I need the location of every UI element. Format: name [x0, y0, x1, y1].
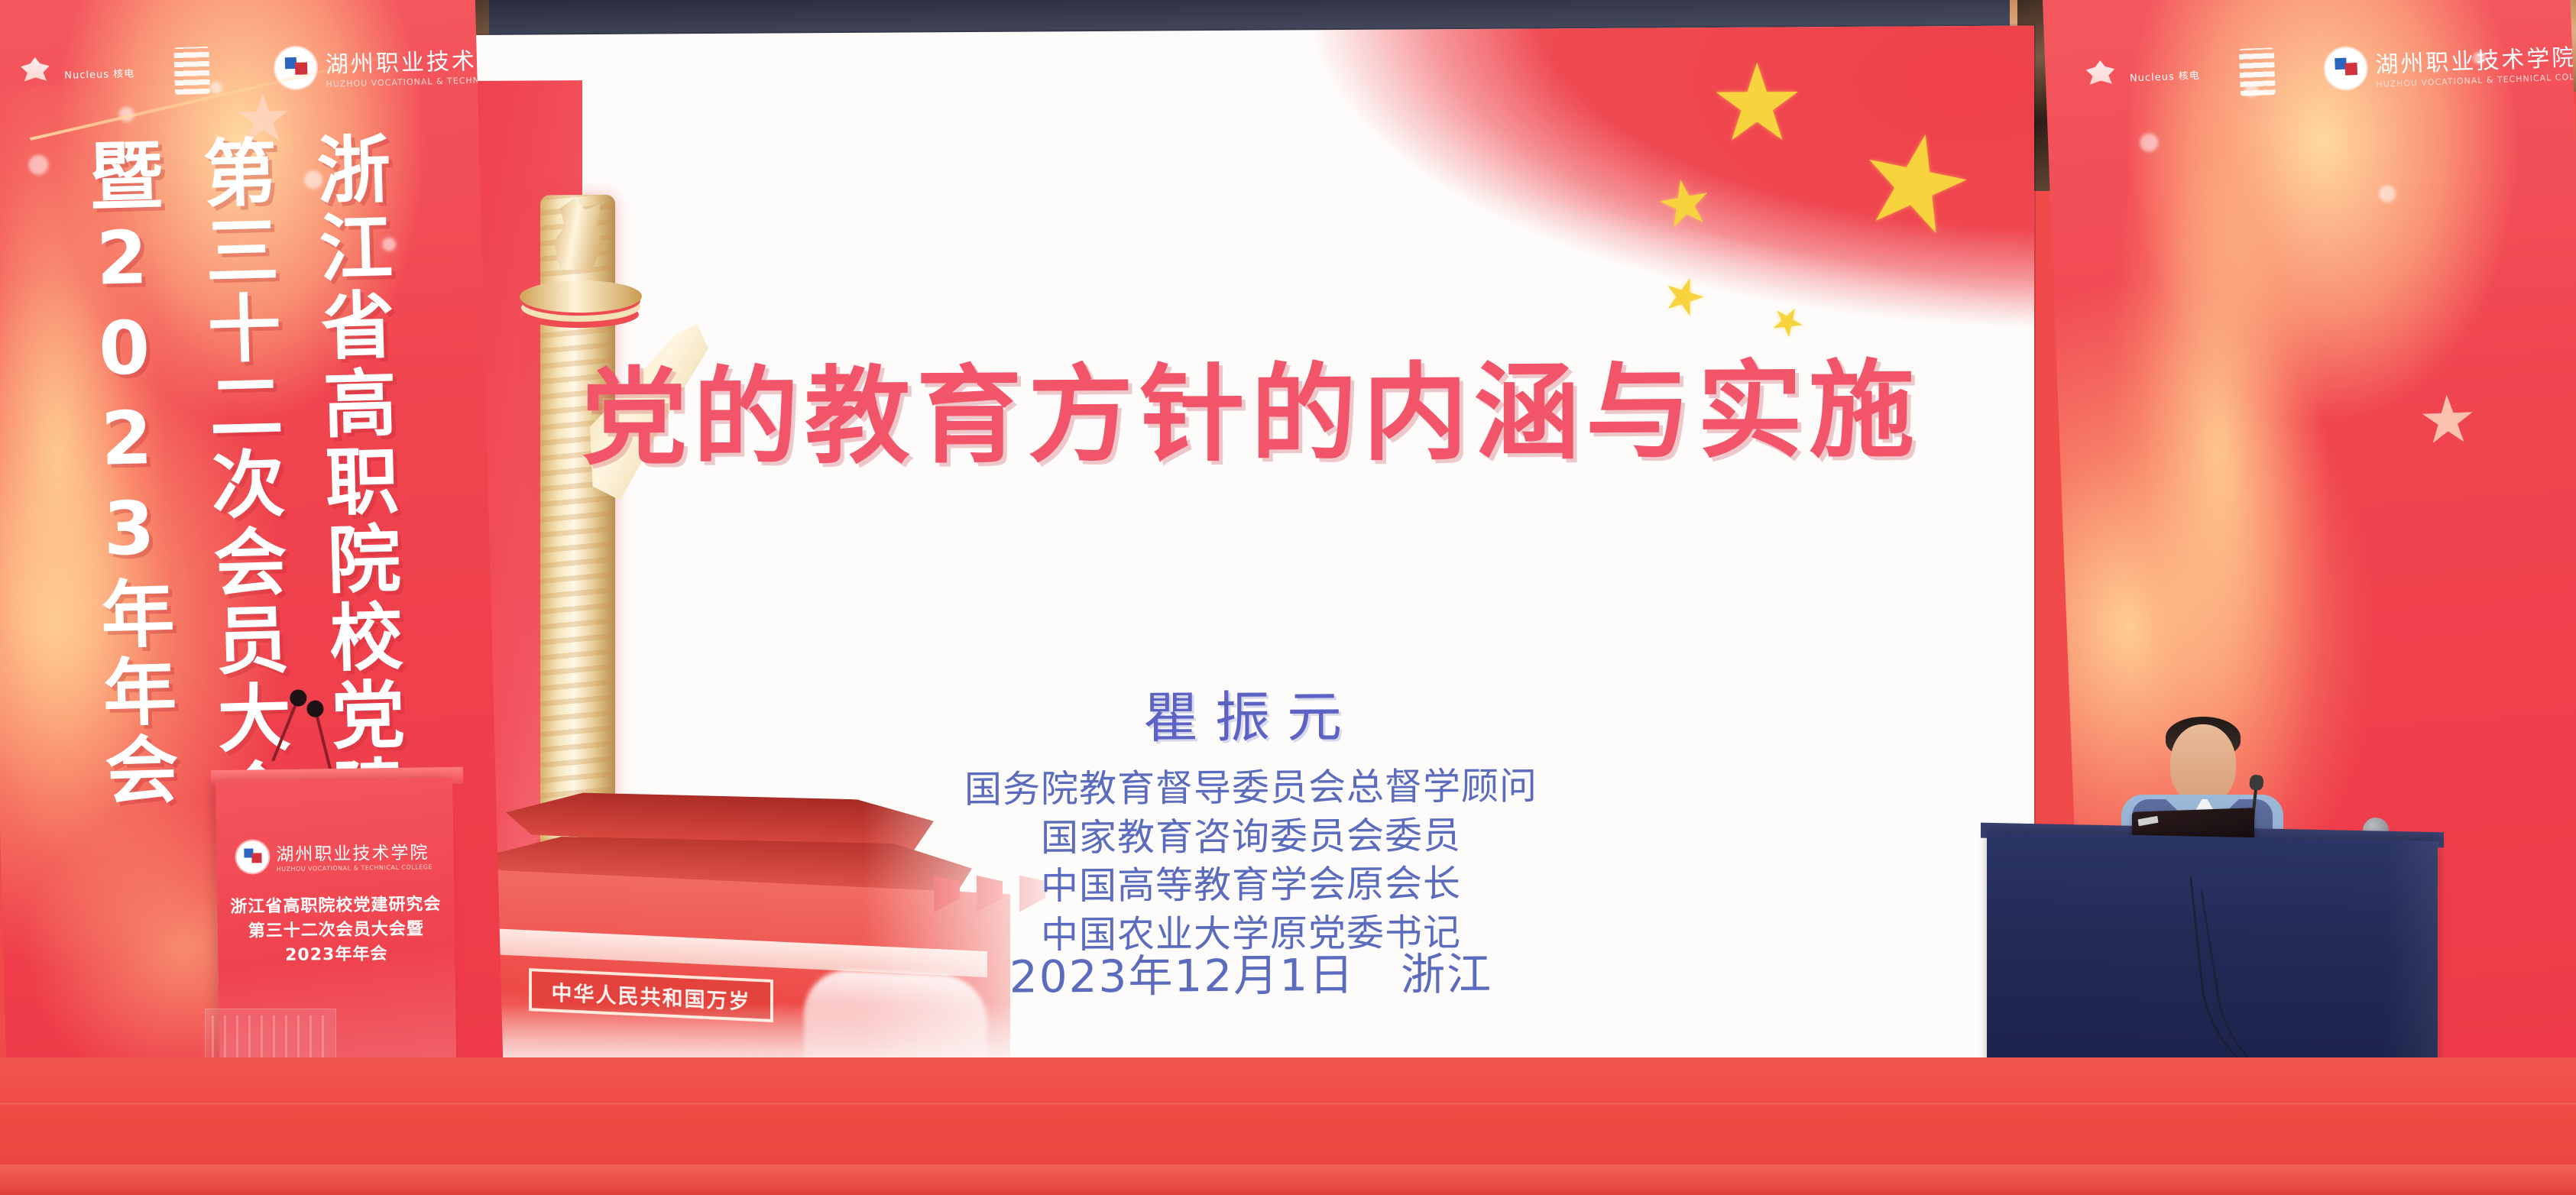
banner-logo-row: Nucleus 核电 湖州职业技术学院 HUZHOU VOCATIONAL & …	[2079, 18, 2552, 120]
podium-event-text: 浙江省高职院校党建研究会 第三十二次会员大会暨 2023年年会	[217, 892, 455, 969]
nuclear-emblem-icon	[2080, 60, 2121, 96]
college-name-cn: 湖州职业技术学院	[276, 843, 429, 865]
slide-date-location: 2023年12月1日 浙江	[468, 934, 2034, 1009]
college-logo: 湖州职业技术学院 HUZHOU VOCATIONAL & TECHNICAL C…	[2325, 37, 2576, 91]
logo-divider	[154, 53, 154, 90]
speaker-head	[2170, 724, 2236, 804]
podium-line: 浙江省高职院校党建研究会	[217, 892, 454, 920]
college-emblem-icon	[2325, 47, 2367, 90]
slide-credentials: 国务院教育督导委员会总督学顾问 国家教育咨询委员会委员 中国高等教育学会原会长 …	[468, 759, 2034, 963]
logo-divider	[2219, 55, 2221, 92]
podium-line: 第三十二次会员大会暨	[218, 917, 455, 944]
college-emblem-icon	[236, 840, 269, 873]
podium-college-logo: 湖州职业技术学院 HUZHOU VOCATIONAL & TECHNICAL C…	[236, 837, 433, 873]
flag-star-icon: ★	[1709, 50, 1805, 157]
stage-floor	[0, 1057, 2576, 1195]
projection-screen: ★ ★ ★ ★ ★ 中华人民共和国	[468, 25, 2034, 1097]
calligraphy-seal-icon	[2239, 47, 2276, 96]
partner-logo-label: Nucleus 核电	[2130, 66, 2201, 84]
conference-stage-scene: ★ ★ ★ ★ ★ 中华人民共和国	[0, 0, 2576, 1195]
podium-line: 2023年年会	[218, 941, 455, 969]
stage-front-edge	[0, 1164, 2576, 1195]
flag-star-icon: ★	[1652, 168, 1719, 240]
partner-logo: Nucleus 核电	[15, 54, 135, 92]
banner-logo-row: Nucleus 核电 湖州职业技术学院 HUZHOU VOCATIONAL & …	[15, 22, 455, 118]
college-logo: 湖州职业技术学院 HUZHOU VOCATIONAL & TECHNICAL C…	[274, 40, 503, 90]
huabiao-disc	[520, 280, 642, 313]
partner-logo-label: Nucleus 核电	[64, 65, 134, 81]
nuclear-emblem-icon	[15, 57, 56, 92]
partner-logo: Nucleus 核电	[2080, 57, 2201, 96]
slide-title: 党的教育方针的内涵与实施	[468, 323, 2034, 486]
calligraphy-seal-icon	[173, 47, 210, 95]
floor-seam	[0, 1103, 2576, 1105]
college-name-en: HUZHOU VOCATIONAL & TECHNICAL COLLEGE	[277, 863, 433, 873]
slide-speaker-name: 瞿振元	[468, 667, 2034, 757]
banner-star-icon: ★	[2417, 381, 2479, 459]
laptop-brand-logo	[2138, 816, 2159, 826]
